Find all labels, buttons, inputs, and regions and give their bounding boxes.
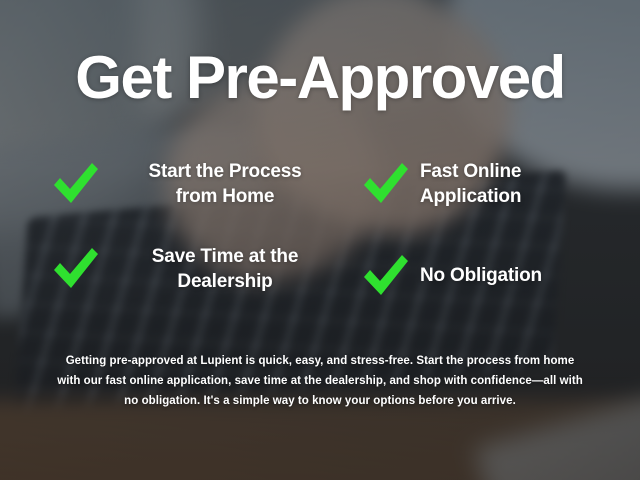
benefit-label-line2: from Home — [176, 186, 275, 207]
check-icon — [360, 158, 410, 210]
benefit-label-line1: Save Time at the — [152, 246, 298, 267]
benefit-label: No Obligation — [420, 263, 542, 288]
benefits-grid: Start the Process from Home Fast Online … — [0, 158, 640, 318]
description-paragraph: Getting pre-approved at Lupient is quick… — [56, 352, 584, 411]
check-icon — [360, 250, 410, 302]
benefit-item-save-time-at-the-dealership: Save Time at the Dealership — [50, 243, 340, 295]
benefit-item-start-the-process: Start the Process from Home — [50, 158, 340, 210]
benefit-label: Save Time at the Dealership — [110, 244, 340, 295]
benefit-item-no-obligation: No Obligation — [360, 250, 640, 302]
benefit-item-fast-online-application: Fast Online Application — [360, 158, 640, 210]
check-icon — [50, 243, 100, 295]
benefit-label-line2: Dealership — [177, 271, 272, 292]
benefit-label-line1: No Obligation — [420, 265, 542, 286]
pre-approval-promo-banner: Get Pre-Approved Start the Process from … — [0, 0, 640, 480]
benefit-label-line2: Application — [420, 186, 521, 207]
page-title: Get Pre-Approved — [0, 48, 640, 108]
benefit-label-line1: Fast Online — [420, 161, 521, 182]
benefit-label: Fast Online Application — [420, 159, 521, 210]
benefit-label-line1: Start the Process — [149, 161, 302, 182]
check-icon — [50, 158, 100, 210]
banner-content: Get Pre-Approved Start the Process from … — [0, 0, 640, 480]
benefit-label: Start the Process from Home — [110, 159, 340, 210]
